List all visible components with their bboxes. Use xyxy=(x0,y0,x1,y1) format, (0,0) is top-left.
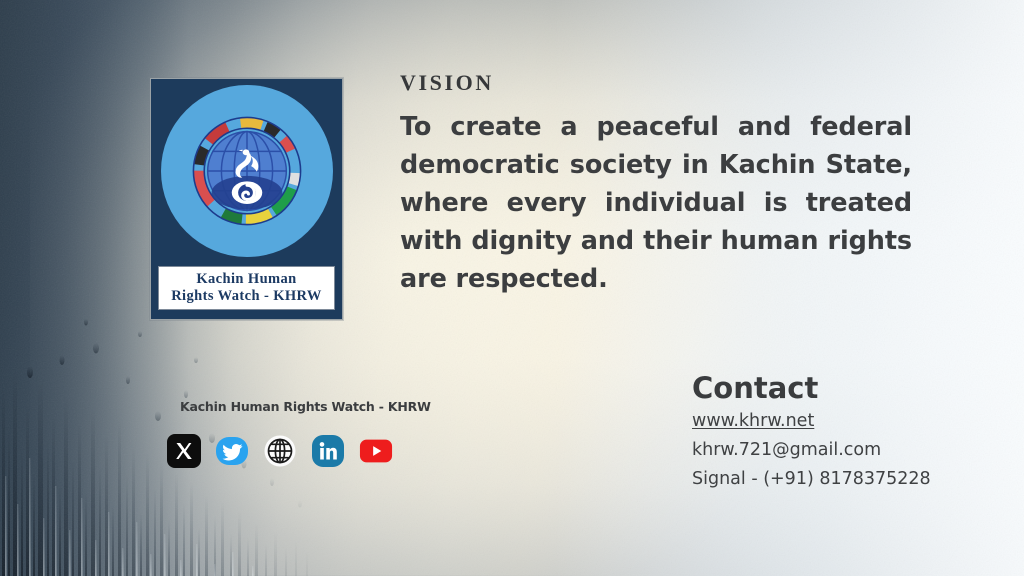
footer-brand-name: Kachin Human Rights Watch - KHRW xyxy=(180,399,431,414)
contact-block: Contact www.khrw.net khrw.721@gmail.com … xyxy=(692,373,992,494)
logo-caption-line-1: Kachin Human xyxy=(196,272,296,288)
contact-email[interactable]: khrw.721@gmail.com xyxy=(692,436,992,465)
linkedin-icon[interactable] xyxy=(311,434,345,468)
youtube-icon[interactable] xyxy=(359,434,393,468)
vision-statement: To create a peaceful and federal democra… xyxy=(400,108,912,298)
logo-caption-line-2: Rights Watch - KHRW xyxy=(171,289,322,305)
slide-canvas: Kachin Human Rights Watch - KHRW VISION … xyxy=(0,0,1024,576)
website-icon[interactable] xyxy=(263,434,297,468)
khrw-logo-card: Kachin Human Rights Watch - KHRW xyxy=(150,78,343,320)
globe-dove-eye-emblem xyxy=(188,112,306,230)
vision-block: VISION To create a peaceful and federal … xyxy=(400,72,912,298)
x-icon[interactable] xyxy=(167,434,201,468)
contact-website[interactable]: www.khrw.net xyxy=(692,407,992,436)
contact-signal[interactable]: Signal - (+91) 8178375228 xyxy=(692,465,992,494)
vision-heading: VISION xyxy=(400,72,912,94)
twitter-icon[interactable] xyxy=(215,434,249,468)
logo-caption: Kachin Human Rights Watch - KHRW xyxy=(158,266,335,310)
contact-title: Contact xyxy=(692,373,992,404)
social-links-row xyxy=(167,434,393,468)
